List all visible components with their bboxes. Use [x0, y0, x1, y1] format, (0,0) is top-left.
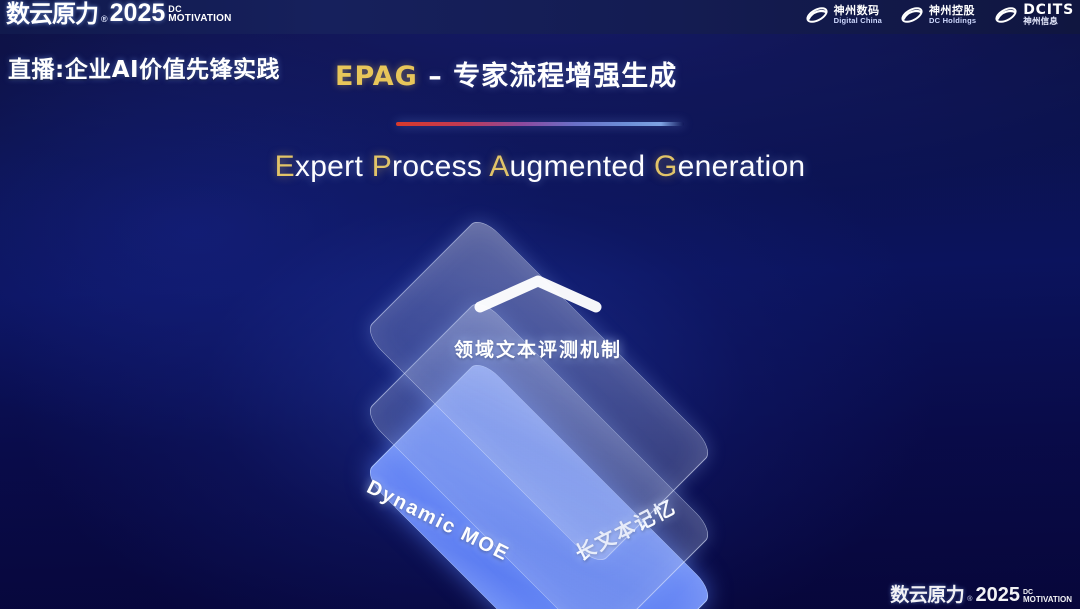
- logo-name-cn: 神州数码: [834, 5, 882, 17]
- logo-text-block: DCITS 神州信息: [1023, 3, 1074, 27]
- registered-mark: ®: [101, 12, 107, 26]
- logo-name-cn: DCITS: [1023, 3, 1074, 18]
- subtitle-cap-g: G: [654, 150, 678, 183]
- subtitle-word-generation: eneration: [678, 150, 806, 183]
- partner-logo-group: 神州数码 Digital China 神州控股 DC Holdings: [805, 3, 1074, 27]
- logo-text-block: 神州控股 DC Holdings: [929, 5, 976, 24]
- subtitle-word-expert: xpert: [295, 150, 372, 183]
- logo-name-en: DC Holdings: [929, 17, 976, 25]
- layer-top-label: 领域文本评测机制: [258, 335, 818, 362]
- watermark-registered-mark: ®: [967, 594, 972, 605]
- watermark-motivation-text: MOTIVATION: [1023, 596, 1072, 604]
- page-title-rest: – 专家流程增强生成: [418, 61, 677, 92]
- brand-motivation-text: MOTIVATION: [168, 14, 231, 24]
- live-stream-title: 直播:企业AI价值先锋实践: [8, 50, 280, 84]
- logo-dc-holdings: 神州控股 DC Holdings: [900, 5, 976, 25]
- layer-top-plate: [363, 215, 715, 567]
- gradient-divider: [396, 122, 684, 126]
- brand-year: 2025: [110, 1, 166, 26]
- layer-top[interactable]: 领域文本评测机制: [258, 225, 818, 565]
- logo-digital-china: 神州数码 Digital China: [805, 5, 882, 25]
- logo-text-block: 神州数码 Digital China: [834, 5, 882, 24]
- brand-watermark-bottom-right: 数云原力 ® 2025 DC MOTIVATION: [890, 585, 1072, 605]
- brand-dc-motivation: DC MOTIVATION: [168, 5, 231, 24]
- page-title: EPAG – 专家流程增强生成: [335, 54, 677, 93]
- subtitle-word-augmented: ugmented: [510, 150, 654, 183]
- chevron-up-icon: [472, 273, 604, 313]
- brand-name-cn: 数云原力: [6, 2, 98, 26]
- swirl-icon: [900, 5, 924, 25]
- watermark-dc-motivation: DC MOTIVATION: [1023, 589, 1072, 604]
- logo-name-en: 神州信息: [1023, 18, 1074, 27]
- isometric-layer-stack: 三类语义建模模块 Dynamic MOE 长文本记忆 领域文本评测机制: [258, 225, 818, 565]
- page-title-acronym: EPAG: [335, 61, 418, 92]
- subtitle-cap-e: E: [275, 150, 295, 183]
- subtitle-cap-p: P: [372, 150, 392, 183]
- subtitle-word-process: rocess: [392, 150, 489, 183]
- logo-dcits: DCITS 神州信息: [994, 3, 1074, 27]
- subtitle-expanded-acronym: Expert Process Augmented Generation: [0, 150, 1080, 184]
- top-bar: 数云原力 ® 2025 DC MOTIVATION 神州数码 Digital C…: [0, 0, 1080, 34]
- logo-name-cn: 神州控股: [929, 5, 976, 17]
- brand-logo-top-left: 数云原力 ® 2025 DC MOTIVATION: [6, 1, 232, 26]
- swirl-icon: [805, 5, 829, 25]
- slide-canvas: 数云原力 ® 2025 DC MOTIVATION 神州数码 Digital C…: [0, 0, 1080, 609]
- watermark-name-cn: 数云原力: [890, 586, 964, 605]
- logo-name-en: Digital China: [834, 17, 882, 25]
- subtitle-cap-a: A: [489, 150, 509, 183]
- swirl-icon: [994, 5, 1018, 25]
- watermark-year: 2025: [975, 585, 1020, 605]
